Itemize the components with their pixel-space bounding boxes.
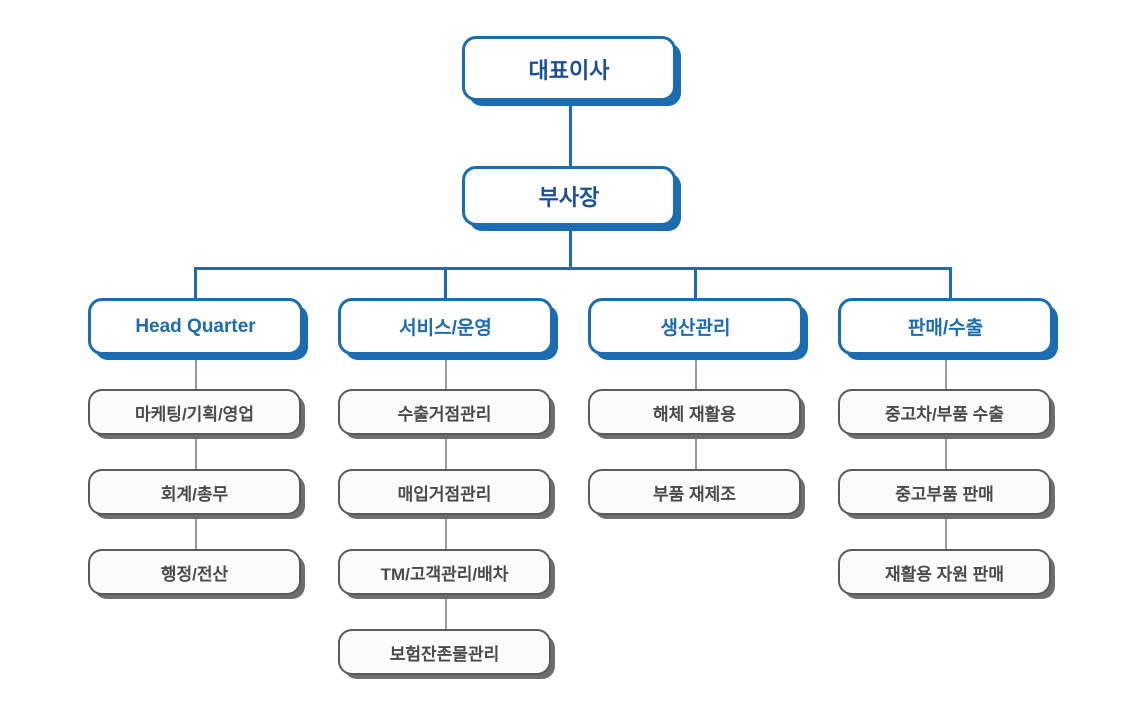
connector-col2-seg1	[445, 355, 447, 390]
node-vice-president[interactable]: 부사장	[462, 166, 676, 226]
node-division-production-management[interactable]: 생산관리	[588, 298, 803, 355]
connector-col1-seg2	[195, 435, 197, 470]
node-team-purchase-base-management[interactable]: 매입거점관리	[338, 469, 551, 515]
connector-col4-seg1	[945, 355, 947, 390]
node-team-used-parts-sales[interactable]: 중고부품 판매	[838, 469, 1051, 515]
org-chart-canvas: 대표이사 부사장 Head Quarter 서비스/운영 생산관리 판매/수출 …	[0, 0, 1140, 728]
connector-horizontal-bus	[194, 267, 952, 270]
node-team-tm-customer-dispatch[interactable]: TM/고객관리/배차	[338, 549, 551, 595]
connector-bus-drop-4	[949, 267, 952, 299]
connector-col3-seg1	[695, 355, 697, 390]
connector-bus-drop-1	[194, 267, 197, 299]
node-team-used-car-parts-export[interactable]: 중고차/부품 수출	[838, 389, 1051, 435]
connector-col3-seg2	[695, 435, 697, 470]
node-team-marketing-planning-sales[interactable]: 마케팅/기획/영업	[88, 389, 301, 435]
connector-vp-drop	[569, 226, 572, 270]
node-team-recycled-resources-sales[interactable]: 재활용 자원 판매	[838, 549, 1051, 595]
connector-bus-drop-2	[444, 267, 447, 299]
connector-bus-drop-3	[694, 267, 697, 299]
connector-root-to-vp	[569, 101, 572, 168]
node-team-insurance-salvage-management[interactable]: 보험잔존물관리	[338, 629, 551, 675]
connector-col4-seg3	[945, 515, 947, 550]
node-division-sales-export[interactable]: 판매/수출	[838, 298, 1053, 355]
node-team-export-base-management[interactable]: 수출거점관리	[338, 389, 551, 435]
node-team-parts-remanufacturing[interactable]: 부품 재제조	[588, 469, 801, 515]
node-division-head-quarter[interactable]: Head Quarter	[88, 298, 303, 355]
connector-col1-seg1	[195, 355, 197, 390]
node-team-administration-it[interactable]: 행정/전산	[88, 549, 301, 595]
connector-col1-seg3	[195, 515, 197, 550]
connector-col2-seg3	[445, 515, 447, 550]
connector-col2-seg4	[445, 595, 447, 630]
node-team-accounting-general-affairs[interactable]: 회계/총무	[88, 469, 301, 515]
node-ceo[interactable]: 대표이사	[462, 36, 676, 101]
node-team-dismantling-recycling[interactable]: 해체 재활용	[588, 389, 801, 435]
connector-col2-seg2	[445, 435, 447, 470]
node-division-service-operations[interactable]: 서비스/운영	[338, 298, 553, 355]
connector-col4-seg2	[945, 435, 947, 470]
